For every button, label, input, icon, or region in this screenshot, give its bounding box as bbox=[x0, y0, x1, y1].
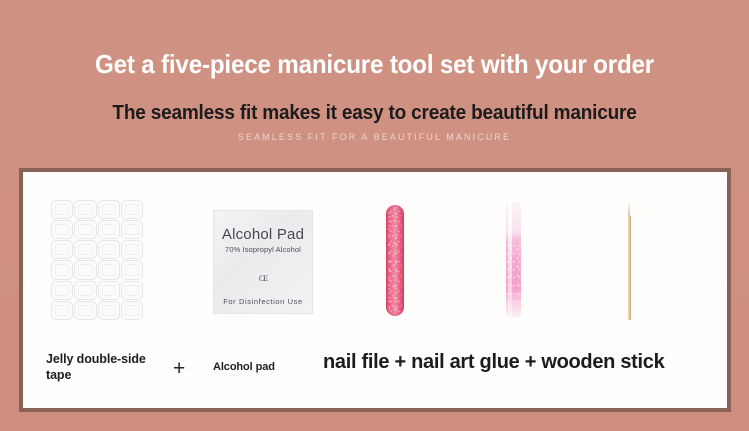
tape-tab bbox=[74, 301, 96, 320]
alcohol-pad-packet-image: Alcohol Pad 70% Isopropyl Alcohol CE For… bbox=[213, 210, 313, 314]
tape-tab bbox=[74, 260, 96, 279]
label-remaining-tools: nail file + nail art glue + wooden stick bbox=[323, 350, 664, 374]
tape-tab bbox=[74, 240, 96, 259]
label-alcohol-pad: Alcohol pad bbox=[213, 360, 275, 374]
tape-tab bbox=[74, 200, 96, 219]
jelly-tape-sheet-image bbox=[49, 198, 145, 322]
ghost-tagline: SEAMLESS FIT FOR A BEAUTIFUL MANICURE bbox=[0, 131, 749, 143]
wooden-stick-image bbox=[626, 200, 632, 320]
wooden-stick-body bbox=[628, 216, 632, 320]
nail-file-image bbox=[386, 205, 404, 316]
jelly-tape-grid bbox=[49, 198, 145, 322]
headline: Get a five-piece manicure tool set with … bbox=[26, 49, 723, 79]
tape-tab bbox=[121, 260, 143, 279]
tape-tab bbox=[98, 200, 120, 219]
tape-tab bbox=[121, 281, 143, 300]
tape-tab bbox=[121, 301, 143, 320]
tape-tab bbox=[121, 200, 143, 219]
tape-tab bbox=[98, 281, 120, 300]
tape-tab bbox=[74, 220, 96, 239]
alcohol-pad-footer: For Disinfection Use bbox=[214, 297, 312, 306]
promo-banner: Get a five-piece manicure tool set with … bbox=[0, 0, 749, 431]
tape-tab bbox=[121, 240, 143, 259]
alcohol-pad-title: Alcohol Pad bbox=[214, 226, 312, 243]
alcohol-pad-subtitle: 70% Isopropyl Alcohol bbox=[214, 245, 312, 254]
product-card: Alcohol Pad 70% Isopropyl Alcohol CE For… bbox=[19, 168, 731, 412]
tape-tab bbox=[98, 301, 120, 320]
tape-tab bbox=[51, 281, 73, 300]
tape-tab bbox=[51, 200, 73, 219]
tape-tab bbox=[98, 220, 120, 239]
tape-tab bbox=[74, 281, 96, 300]
tape-tab bbox=[51, 301, 73, 320]
tape-tab bbox=[98, 260, 120, 279]
tape-tab bbox=[51, 220, 73, 239]
plus-separator-icon: + bbox=[173, 358, 185, 380]
nail-art-glue-image bbox=[506, 202, 521, 318]
tape-tab bbox=[51, 240, 73, 259]
product-card-inner: Alcohol Pad 70% Isopropyl Alcohol CE For… bbox=[23, 172, 727, 408]
tape-tab bbox=[51, 260, 73, 279]
tape-tab bbox=[121, 220, 143, 239]
subheadline: The seamless fit makes it easy to create… bbox=[19, 101, 731, 125]
label-jelly-tape: Jelly double-side tape bbox=[46, 351, 164, 383]
wooden-stick-tip bbox=[628, 200, 630, 217]
product-label-row: Jelly double-side tape + Alcohol pad nai… bbox=[23, 338, 727, 408]
product-photo-strip: Alcohol Pad 70% Isopropyl Alcohol CE For… bbox=[23, 172, 727, 338]
tape-tab bbox=[98, 240, 120, 259]
ce-mark-icon: CE bbox=[214, 274, 312, 283]
